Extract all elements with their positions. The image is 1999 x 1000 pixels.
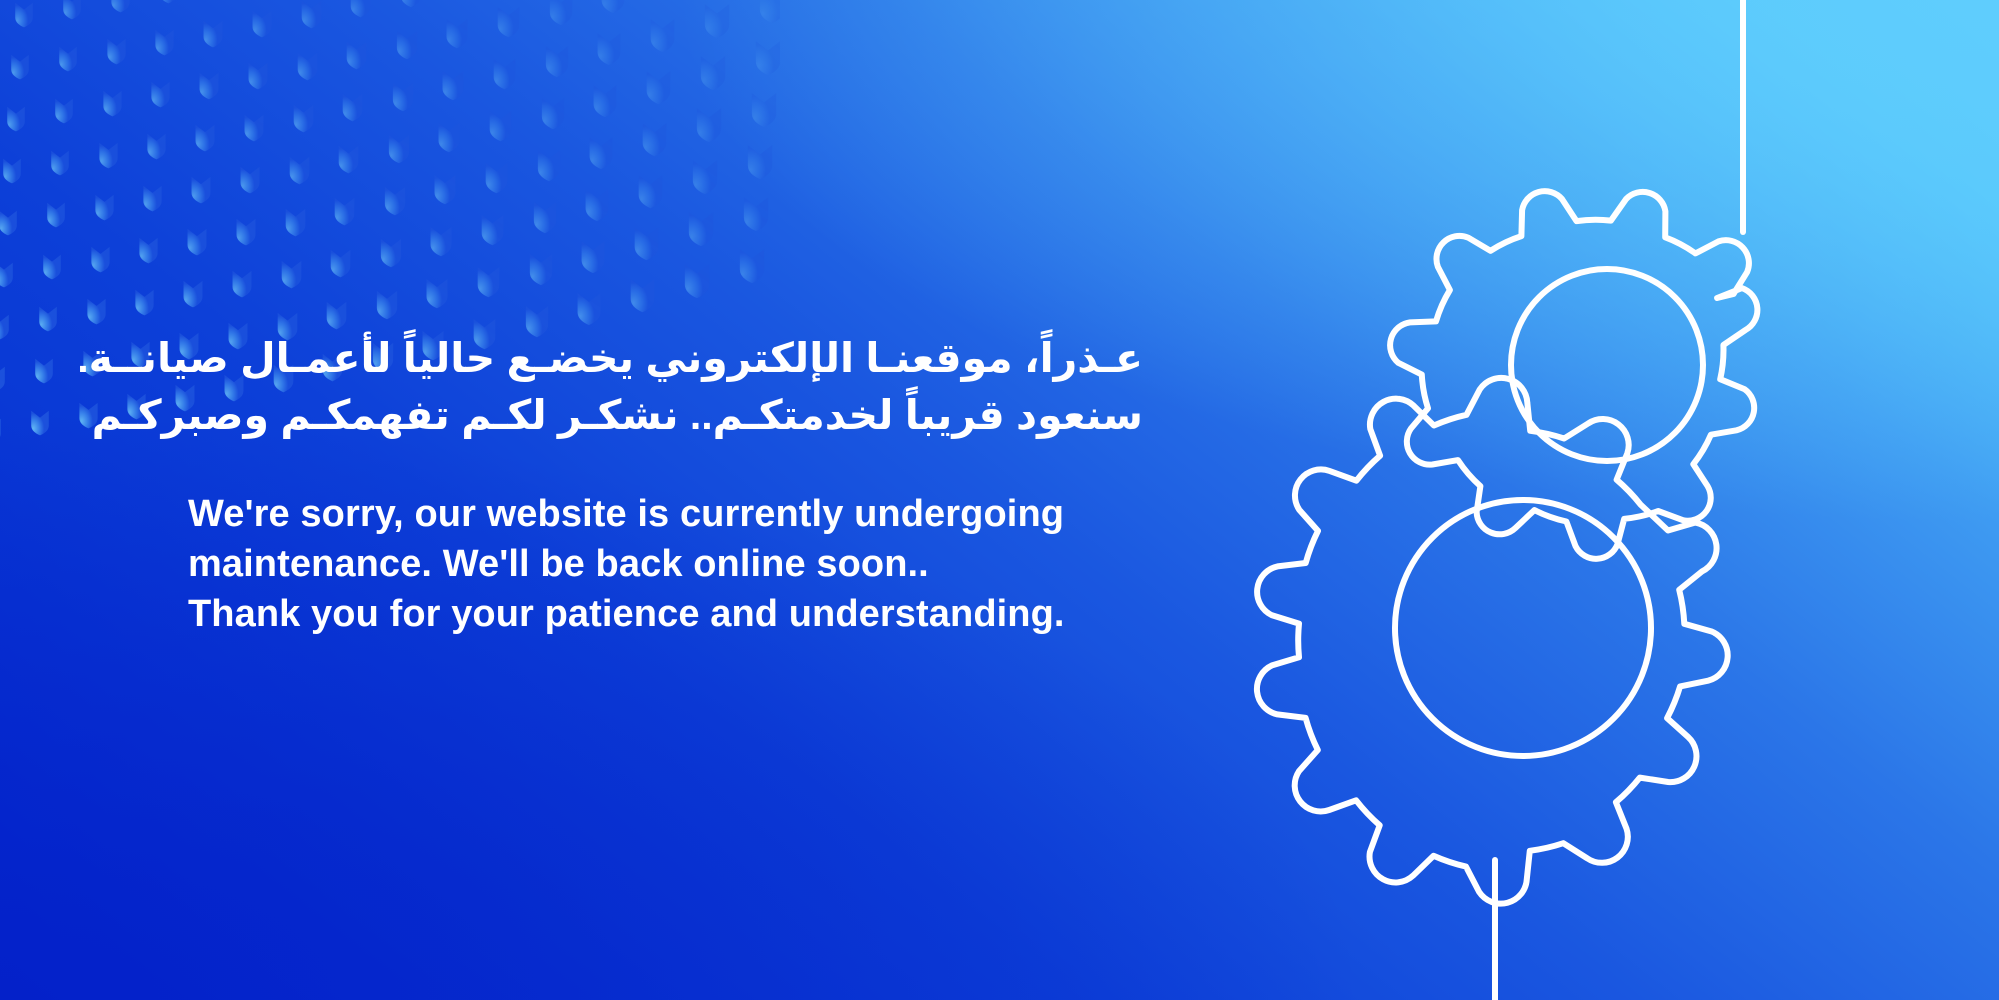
arabic-message-line-2: سنعود قريباً لخدمتكـم.. نشكـر لكـم تفهمك…	[188, 387, 1143, 444]
english-message-line-1: We're sorry, our website is currently un…	[188, 489, 1248, 539]
maintenance-message: عـذراً، موقعنـا الإلكتروني يخضـع حالياً …	[188, 330, 1248, 640]
english-message-line-3: Thank you for your patience and understa…	[188, 589, 1248, 639]
english-message: We're sorry, our website is currently un…	[188, 489, 1248, 639]
maintenance-page: عـذراً، موقعنـا الإلكتروني يخضـع حالياً …	[0, 0, 1999, 1000]
english-message-line-2: maintenance. We'll be back online soon..	[188, 539, 1248, 589]
arabic-message: عـذراً، موقعنـا الإلكتروني يخضـع حالياً …	[188, 330, 1143, 443]
arabic-message-line-1: عـذراً، موقعنـا الإلكتروني يخضـع حالياً …	[188, 330, 1143, 387]
